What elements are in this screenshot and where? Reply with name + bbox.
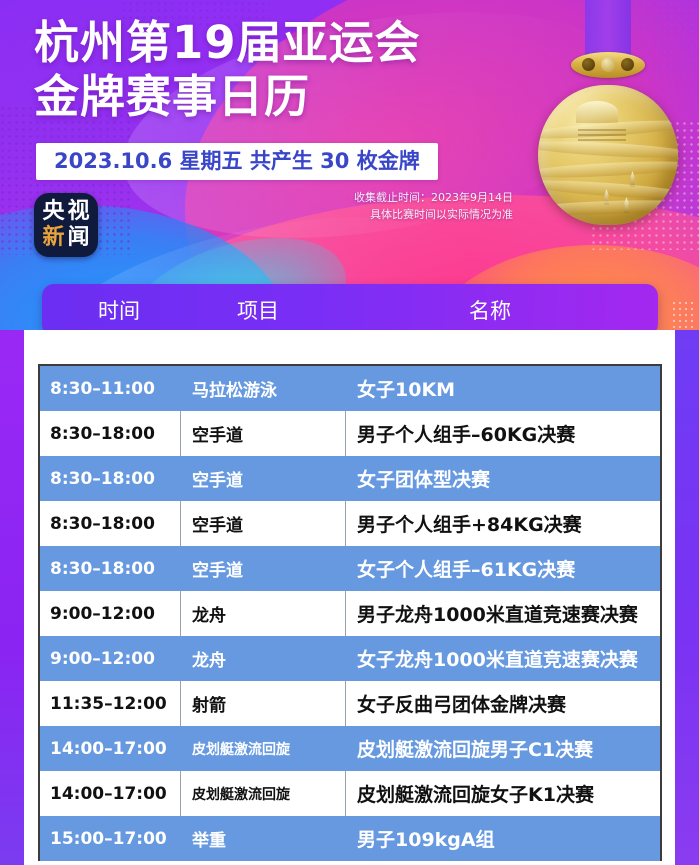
cell-sport: 皮划艇激流回旋	[180, 784, 345, 804]
cell-time: 14:00–17:00	[40, 784, 180, 804]
medal-disc	[538, 85, 678, 225]
cell-event: 男子个人组手–60KG决赛	[345, 420, 660, 447]
cell-sport: 举重	[180, 826, 345, 851]
cell-sport: 空手道	[180, 421, 345, 446]
cell-time: 8:30–18:00	[40, 514, 180, 534]
cell-event: 女子10KM	[345, 375, 660, 402]
title-line-2: 金牌赛事日历	[34, 70, 504, 124]
cell-event: 女子个人组手–61KG决赛	[345, 555, 660, 582]
logo-char-4: 闻	[66, 225, 91, 251]
table-row: 8:30–18:00空手道女子团体型决赛	[40, 456, 660, 501]
page-title: 杭州第19届亚运会 金牌赛事日历	[34, 16, 504, 124]
cell-event: 女子龙舟1000米直道竞速赛决赛	[345, 645, 660, 672]
logo-char-1: 央	[41, 199, 66, 225]
left-edge-stripe	[0, 330, 24, 865]
cell-sport: 空手道	[180, 556, 345, 581]
table-row: 9:00–12:00龙舟女子龙舟1000米直道竞速赛决赛	[40, 636, 660, 681]
table-row: 15:00–17:00举重男子109kgA组	[40, 816, 660, 861]
cell-sport: 射箭	[180, 691, 345, 716]
table-row: 8:30–18:00空手道女子个人组手–61KG决赛	[40, 546, 660, 591]
cell-sport: 马拉松游泳	[180, 376, 345, 401]
date-summary-text: 2023.10.6 星期五 共产生 30 枚金牌	[54, 149, 420, 173]
cell-event: 皮划艇激流回旋女子K1决赛	[345, 780, 660, 807]
table-row: 14:00–17:00皮划艇激流回旋皮划艇激流回旋男子C1决赛	[40, 726, 660, 771]
logo-char-2: 视	[66, 199, 91, 225]
cell-time: 8:30–18:00	[40, 424, 180, 444]
cell-event: 皮划艇激流回旋男子C1决赛	[345, 735, 660, 762]
medal-wave	[538, 198, 678, 217]
schedule-table: 8:30–11:00马拉松游泳女子10KM8:30–18:00空手道男子个人组手…	[38, 364, 662, 861]
cell-event: 女子团体型决赛	[345, 465, 660, 492]
cell-time: 9:00–12:00	[40, 604, 180, 624]
cell-sport: 皮划艇激流回旋	[180, 739, 345, 759]
cell-time: 15:00–17:00	[40, 829, 180, 849]
gold-medal-icon	[533, 30, 683, 230]
cell-time: 11:35–12:00	[40, 694, 180, 714]
medal-sun-motif	[576, 101, 618, 123]
column-header-time: 时间	[98, 295, 140, 325]
cell-event: 男子龙舟1000米直道竞速赛决赛	[345, 600, 660, 627]
table-row: 8:30–11:00马拉松游泳女子10KM	[40, 366, 660, 411]
table-row: 8:30–18:00空手道男子个人组手–60KG决赛	[40, 411, 660, 456]
cell-event: 女子反曲弓团体金牌决赛	[345, 690, 660, 717]
medal-wave	[538, 158, 678, 180]
cell-sport: 龙舟	[180, 646, 345, 671]
date-summary-bar: 2023.10.6 星期五 共产生 30 枚金牌	[36, 143, 438, 180]
medal-clasp-icon	[571, 52, 645, 78]
cell-time: 8:30–11:00	[40, 379, 180, 399]
cell-event: 男子109kgA组	[345, 825, 660, 852]
table-row: 11:35–12:00射箭女子反曲弓团体金牌决赛	[40, 681, 660, 726]
column-header-sport: 项目	[237, 295, 279, 325]
cell-sport: 龙舟	[180, 601, 345, 626]
cell-time: 8:30–18:00	[40, 559, 180, 579]
title-line-1: 杭州第19届亚运会	[34, 16, 504, 70]
right-edge-stripe	[675, 330, 699, 865]
table-row: 14:00–17:00皮划艇激流回旋皮划艇激流回旋女子K1决赛	[40, 771, 660, 816]
logo-char-3: 新	[41, 225, 66, 251]
medal-emblem-text	[578, 129, 626, 143]
table-column-header: 时间 项目 名称	[42, 284, 658, 336]
fineprint-block: 收集截止时间：2023年9月14日 具体比赛时间以实际情况为准	[354, 189, 513, 223]
asian-games-medal-calendar-poster: 杭州第19届亚运会 金牌赛事日历 2023.10.6 星期五 共产生 30 枚金…	[0, 0, 699, 865]
table-row: 9:00–12:00龙舟男子龙舟1000米直道竞速赛决赛	[40, 591, 660, 636]
cell-time: 14:00–17:00	[40, 739, 180, 759]
column-header-event: 名称	[469, 295, 511, 325]
table-row: 8:30–18:00空手道男子个人组手+84KG决赛	[40, 501, 660, 546]
cctv-news-logo: 央 视 新 闻	[34, 193, 98, 257]
cell-time: 8:30–18:00	[40, 469, 180, 489]
fineprint-disclaimer: 具体比赛时间以实际情况为准	[354, 206, 513, 223]
cell-sport: 空手道	[180, 511, 345, 536]
cell-sport: 空手道	[180, 466, 345, 491]
schedule-panel: 央视新闻 央视新闻 央视新闻 8:30–11:00马拉松游泳女子10KM8:30…	[24, 330, 675, 865]
cell-event: 男子个人组手+84KG决赛	[345, 510, 660, 537]
cell-time: 9:00–12:00	[40, 649, 180, 669]
fineprint-deadline: 收集截止时间：2023年9月14日	[354, 189, 513, 206]
